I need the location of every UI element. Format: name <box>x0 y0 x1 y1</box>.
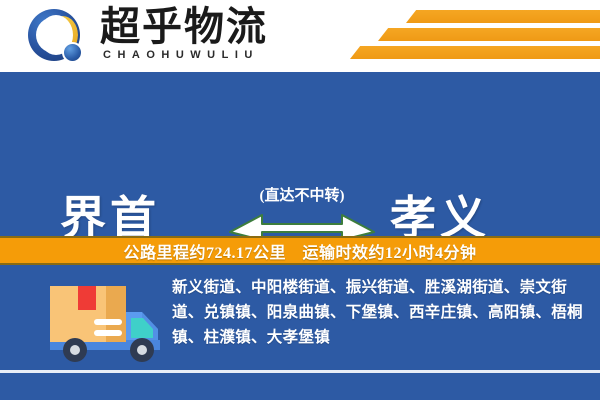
direct-route-label: (直达不中转) <box>228 184 376 205</box>
coverage-panel: 新义街道、中阳楼街道、振兴街道、胜溪湖街道、崇文街道、兑镇镇、阳泉曲镇、下堡镇、… <box>0 265 600 400</box>
brand-name-cn: 超乎物流 <box>100 6 268 48</box>
logo-small-sphere-icon <box>62 42 83 63</box>
distance-duration-bar: 公路里程约724.17公里 运输时效约12小时4分钟 <box>0 236 600 265</box>
distance-duration-text: 公路里程约724.17公里 运输时效约12小时4分钟 <box>123 239 476 263</box>
brand-logo-icon <box>26 9 88 67</box>
logistics-route-poster: 超乎物流 CHAOHUWULIU 界首 (直达不中转) 【往返运输】 孝义 公路… <box>0 0 600 400</box>
road-divider-line <box>0 370 600 373</box>
route-panel: 界首 (直达不中转) 【往返运输】 孝义 <box>0 72 600 236</box>
header-bar: 超乎物流 CHAOHUWULIU <box>0 0 600 72</box>
stripe-2 <box>378 28 600 41</box>
coverage-areas-text: 新义街道、中阳楼街道、振兴街道、胜溪湖街道、崇文街道、兑镇镇、阳泉曲镇、下堡镇、… <box>172 275 584 350</box>
stripe-3 <box>350 46 600 59</box>
header-stripes-decoration <box>340 8 600 64</box>
delivery-truck-icon <box>30 274 170 364</box>
stripe-1 <box>406 10 600 23</box>
brand-name-en: CHAOHUWULIU <box>103 49 259 61</box>
